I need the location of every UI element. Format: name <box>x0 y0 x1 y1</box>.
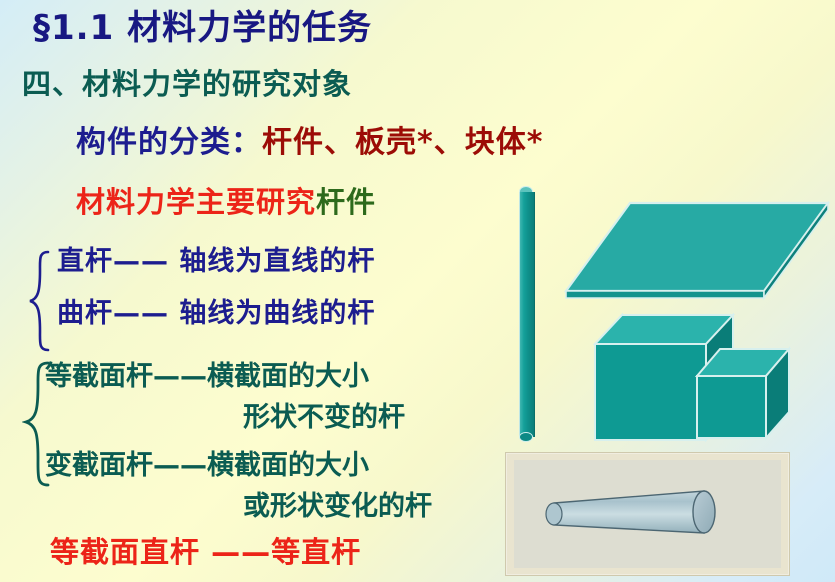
rod-group-line-1: 直杆—— 轴线为直线的杆 <box>57 248 375 275</box>
section-group-line-1b: 形状不变的杆 <box>243 404 405 431</box>
focus-line: 材料力学主要研究杆件 <box>76 188 376 217</box>
specimen-cylinder-icon <box>536 485 706 533</box>
rod-group-line-2-text: 曲杆—— 轴线为曲线的杆 <box>57 298 375 329</box>
section-group-line-2a-text: 变截面杆——横截面的大小 <box>45 450 369 481</box>
conclusion-text: 等截面直杆 ——等直杆 <box>50 535 361 569</box>
section-group-line-2b: 或形状变化的杆 <box>243 493 432 520</box>
plate-figure <box>562 199 832 309</box>
section-heading: 四、材料力学的研究对象 <box>22 70 352 99</box>
focus-lead: 材料力学主要研究 <box>76 185 316 219</box>
specimen-photo <box>505 452 790 576</box>
section-heading-text: 四、材料力学的研究对象 <box>22 67 352 101</box>
rod-body <box>519 192 535 437</box>
section-group-line-2b-text: 或形状变化的杆 <box>243 491 432 522</box>
page-title: §1.1 材料力学的任务 <box>33 11 372 45</box>
section-group-line-2a: 变截面杆——横截面的大小 <box>45 452 369 479</box>
classification-line: 构件的分类：杆件、板壳*、块体* <box>76 128 543 158</box>
rod-group-brace-icon <box>26 249 52 353</box>
box-small-figure <box>694 346 792 443</box>
section-group-line-1b-text: 形状不变的杆 <box>243 402 405 433</box>
rod-bottom-cap <box>519 432 533 442</box>
conclusion-line: 等截面直杆 ——等直杆 <box>50 538 361 567</box>
rod-group-line-1-text: 直杆—— 轴线为直线的杆 <box>57 246 375 277</box>
page-title-text: §1.1 材料力学的任务 <box>33 8 372 48</box>
section-group-line-1a: 等截面杆——横截面的大小 <box>45 363 369 390</box>
slide-canvas: §1.1 材料力学的任务 四、材料力学的研究对象 构件的分类：杆件、板壳*、块体… <box>0 0 835 582</box>
rod-figure <box>519 186 533 442</box>
section-group-line-1a-text: 等截面杆——横截面的大小 <box>45 361 369 392</box>
focus-target: 杆件 <box>316 185 376 219</box>
classification-items: 杆件、板壳*、块体* <box>262 125 543 160</box>
classification-label: 构件的分类： <box>76 125 262 160</box>
rod-group-line-2: 曲杆—— 轴线为曲线的杆 <box>57 300 375 327</box>
